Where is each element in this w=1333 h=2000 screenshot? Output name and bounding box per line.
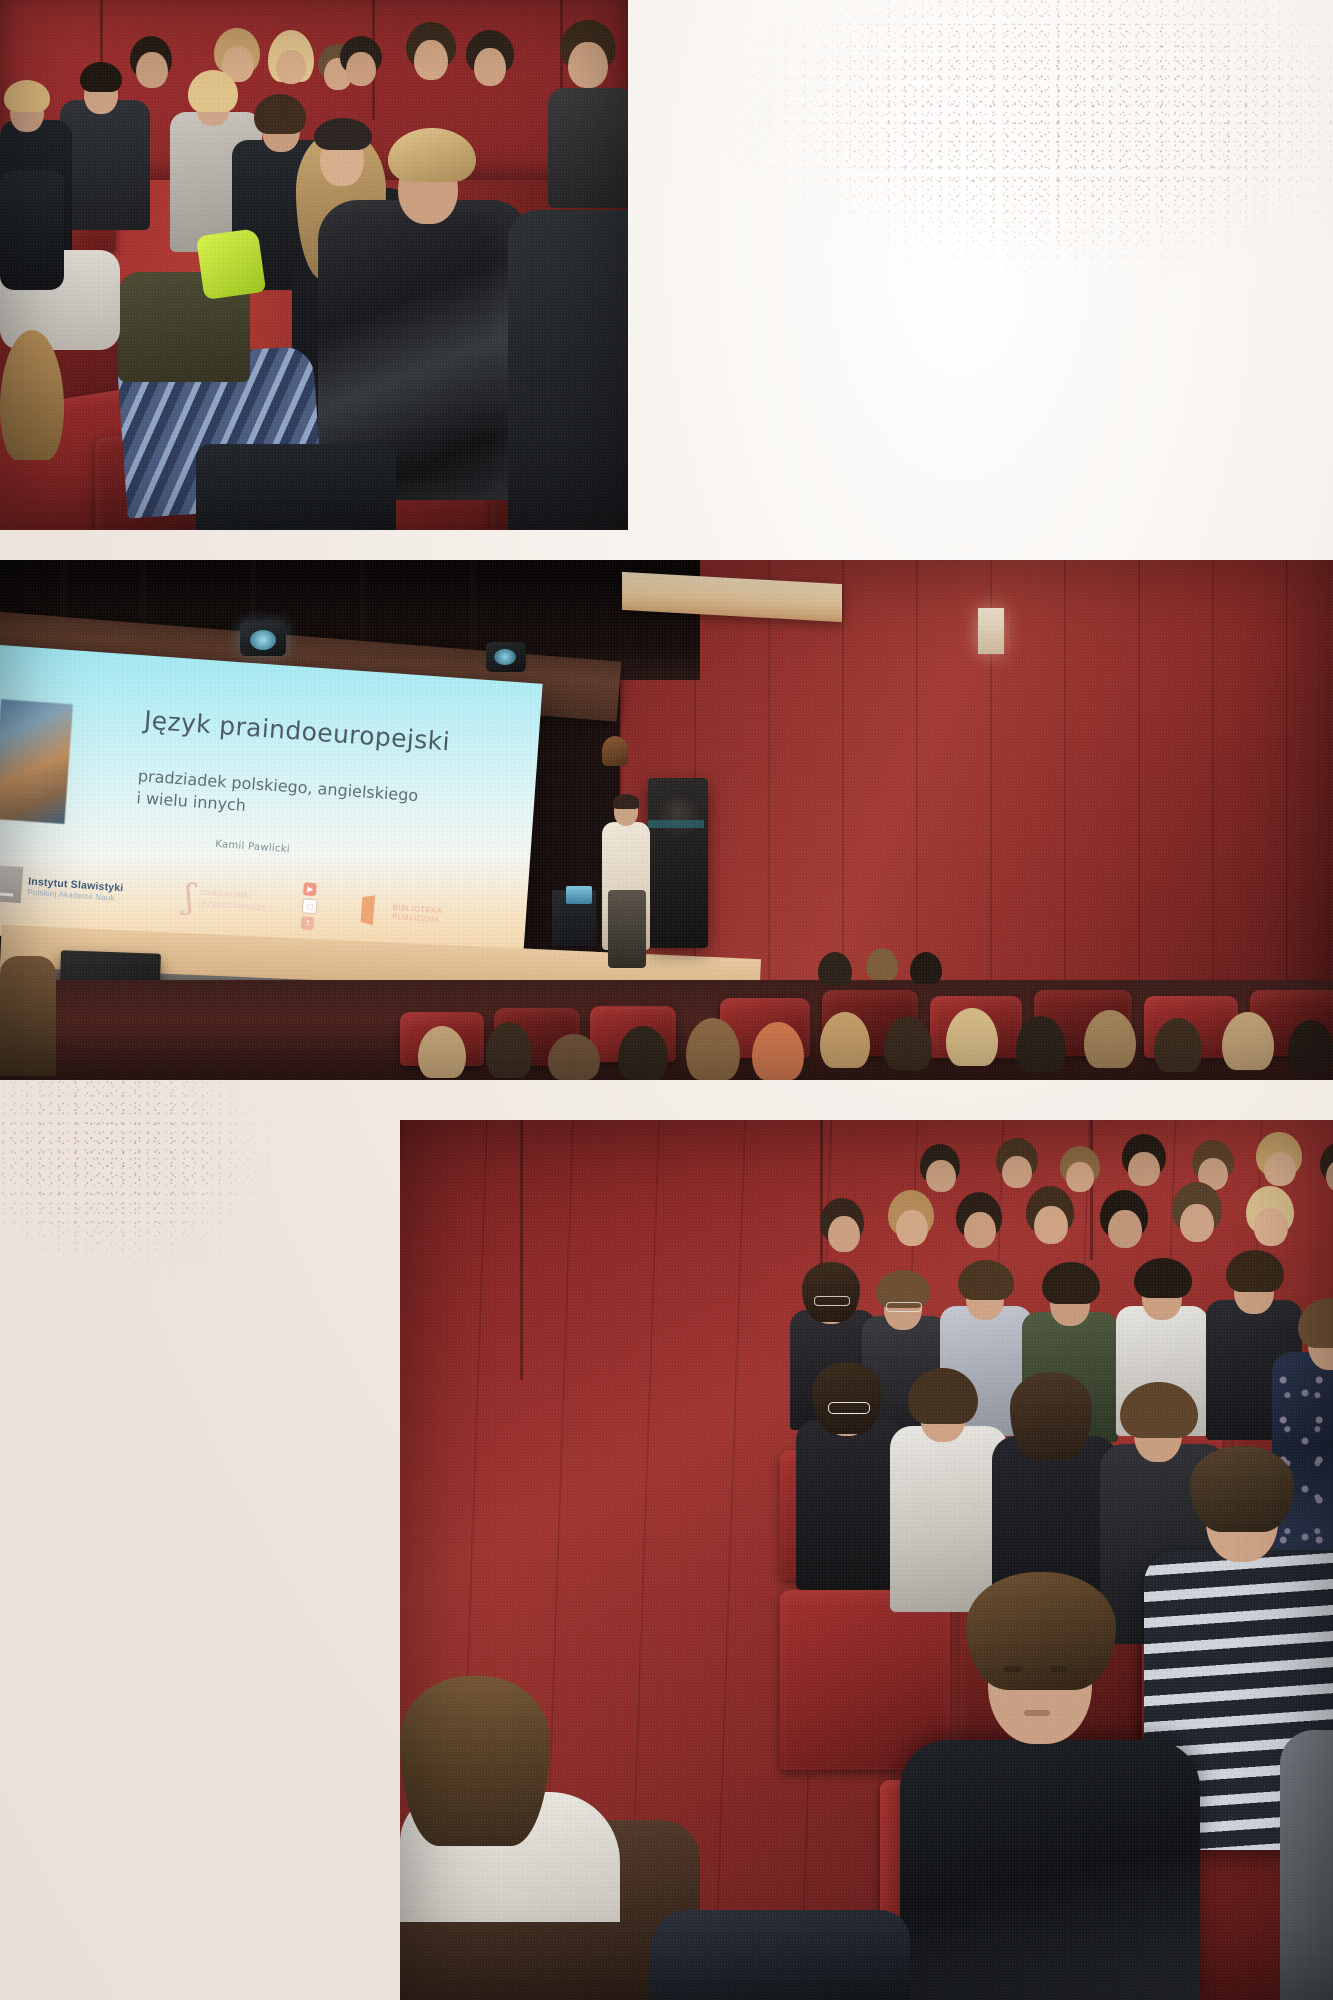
photo-lecture-hall: Język praindoeuropejski pradziadek polsk… — [0, 560, 1333, 1080]
ciekawostki-icon: ʃ — [184, 880, 196, 915]
photo-audience-bottom-right — [400, 1120, 1333, 2000]
slide-title: Język praindoeuropejski — [143, 705, 451, 756]
facebook-icon: f — [301, 916, 315, 930]
biblioteka-book-icon — [360, 895, 388, 927]
social-icon-group: ▶ ◻ f — [301, 882, 319, 930]
biblioteka-publiczna-logo: BIBLIOTEKA PUBLICZNA — [360, 895, 443, 931]
instagram-icon: ◻ — [302, 898, 318, 914]
instytut-slawistyki-icon — [0, 865, 23, 903]
slide-subtitle: pradziadek polskiego, angielskiego i wie… — [136, 765, 419, 828]
photo-audience-top-left — [0, 0, 628, 530]
wall-lamp — [978, 608, 1004, 654]
youtube-icon: ▶ — [303, 882, 317, 896]
slide-author: Kamil Pawlicki — [215, 839, 290, 855]
pa-speaker-stack — [648, 778, 708, 948]
instytut-slawistyki-logo: Instytut Slawistyki Polskiej Akademii Na… — [0, 865, 124, 911]
projection-screen: Język praindoeuropejski pradziadek polsk… — [0, 645, 543, 973]
ciekawostki-jezykoznawcze-logo: ʃ ciekawostki językoznawcze — [184, 880, 268, 920]
slide-thumbnail-image — [0, 699, 73, 824]
